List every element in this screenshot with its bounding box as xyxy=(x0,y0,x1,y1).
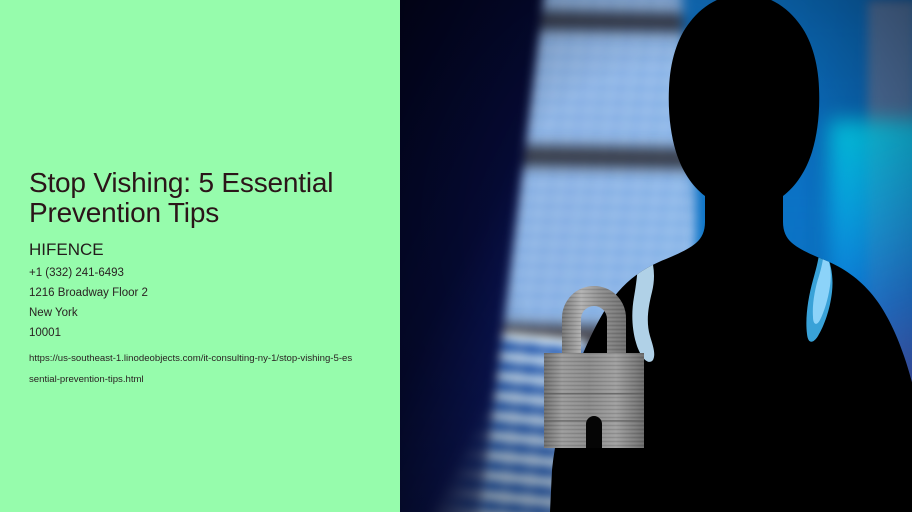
contact-city: New York xyxy=(29,303,369,323)
page-title: Stop Vishing: 5 Essential Prevention Tip… xyxy=(29,168,339,228)
contact-zip: 10001 xyxy=(29,323,369,343)
source-url[interactable]: https://us-southeast-1.linodeobjects.com… xyxy=(29,348,355,390)
contact-phone: +1 (332) 241-6493 xyxy=(29,263,369,283)
brand-name: HIFENCE xyxy=(29,240,369,260)
contact-block: +1 (332) 241-6493 1216 Broadway Floor 2 … xyxy=(29,263,369,343)
hero-photo xyxy=(400,0,912,512)
text-stack: Stop Vishing: 5 Essential Prevention Tip… xyxy=(29,168,369,390)
contact-street: 1216 Broadway Floor 2 xyxy=(29,283,369,303)
left-text-panel: Stop Vishing: 5 Essential Prevention Tip… xyxy=(0,0,400,512)
poster-card: Stop Vishing: 5 Essential Prevention Tip… xyxy=(0,0,912,512)
person-silhouette xyxy=(400,0,912,512)
padlock-icon xyxy=(541,283,647,448)
